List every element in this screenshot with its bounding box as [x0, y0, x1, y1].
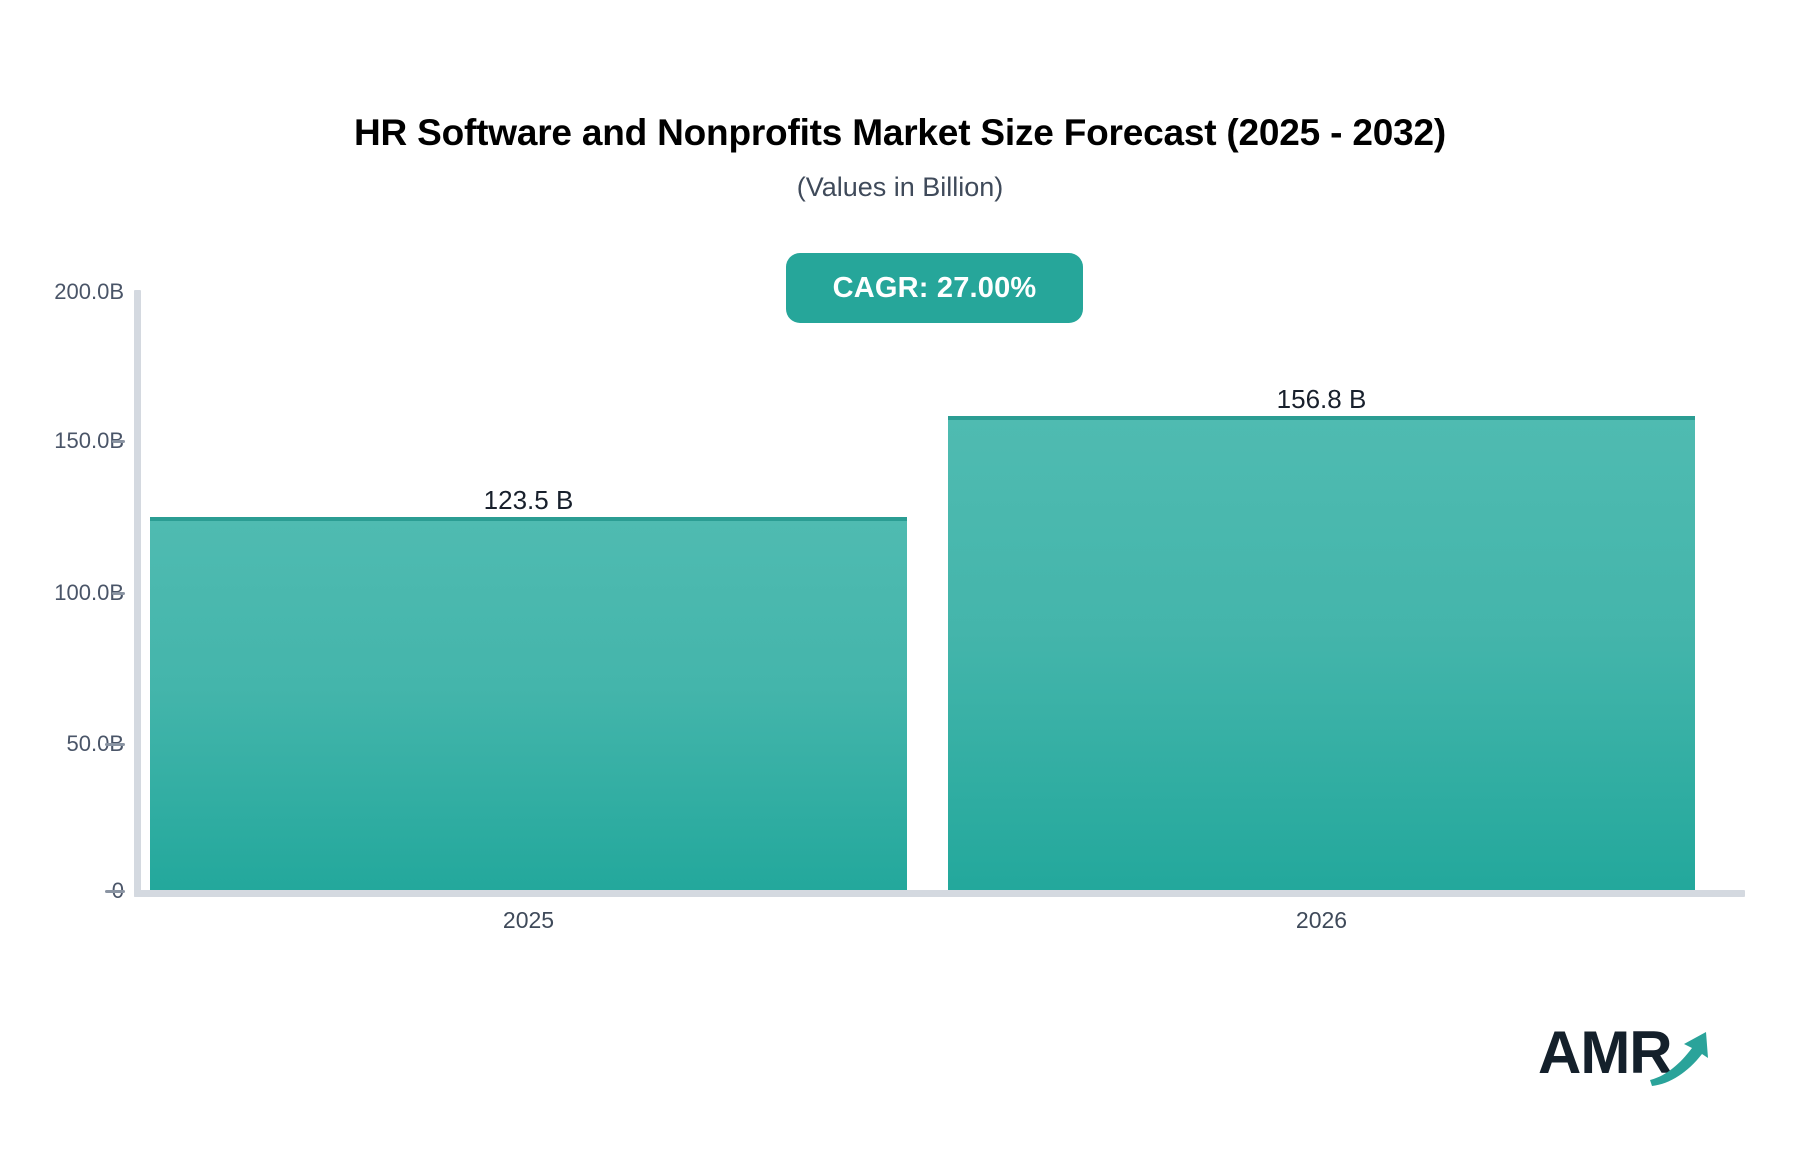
amr-logo: AMR — [1538, 1020, 1728, 1090]
plot-area: 200.0B 150.0B 100.0B 50.0B 0 123.5 B 202… — [0, 0, 1800, 1156]
bar-2026[interactable] — [948, 416, 1695, 890]
x-tick-label-2025: 2025 — [400, 907, 657, 934]
bar-value-2026: 156.8 B — [1193, 384, 1450, 415]
y-axis-line — [134, 290, 141, 897]
bar-2025[interactable] — [150, 517, 907, 890]
y-tick-label-200: 200.0B — [0, 281, 134, 303]
x-tick-label-2026: 2026 — [1193, 907, 1450, 934]
bar-value-2025: 123.5 B — [400, 485, 657, 516]
y-tick-mark-150 — [112, 440, 125, 443]
y-tick-mark-50 — [105, 743, 125, 746]
chart-page: HR Software and Nonprofits Market Size F… — [0, 0, 1800, 1156]
growth-arrow-icon — [1650, 1028, 1728, 1090]
y-tick-mark-0 — [105, 890, 125, 893]
x-axis-baseline — [134, 890, 1745, 897]
y-tick-mark-100 — [112, 592, 125, 595]
